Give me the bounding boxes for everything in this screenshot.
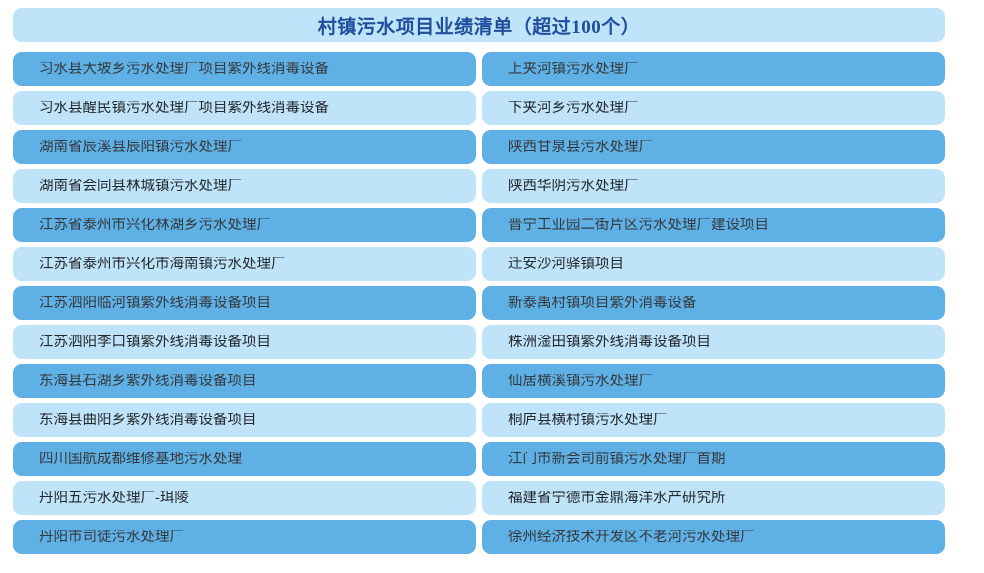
project-name: 丹阳五污水处理厂-珥陵 bbox=[39, 491, 189, 506]
table-row: 丹阳五污水处理厂-珥陵福建省宁德市金鼎海洋水产研究所 bbox=[13, 481, 945, 515]
table-row: 江苏泗阳临河镇紫外线消毒设备项目新泰禹村镇项目紫外消毒设备 bbox=[13, 286, 945, 320]
project-cell-right[interactable]: 陕西华阴污水处理厂 bbox=[482, 169, 945, 203]
project-name: 江苏泗阳临河镇紫外线消毒设备项目 bbox=[39, 296, 271, 311]
project-name: 江苏省泰州市兴化市海南镇污水处理厂 bbox=[39, 257, 286, 272]
project-cell-right[interactable]: 株洲淦田镇紫外线消毒设备项目 bbox=[482, 325, 945, 359]
project-cell-left[interactable]: 习水县大坡乡污水处理厂项目紫外线消毒设备 bbox=[13, 52, 476, 86]
project-name: 四川国航成都维修基地污水处理 bbox=[39, 452, 242, 467]
project-name: 丹阳市司徒污水处理厂 bbox=[39, 530, 184, 545]
project-name: 徐州经济技术开发区不老河污水处理厂 bbox=[508, 530, 755, 545]
project-cell-left[interactable]: 江苏省泰州市兴化林湖乡污水处理厂 bbox=[13, 208, 476, 242]
table-row: 江苏省泰州市兴化市海南镇污水处理厂迁安沙河驿镇项目 bbox=[13, 247, 945, 281]
table-row: 江苏省泰州市兴化林湖乡污水处理厂晋宁工业园二街片区污水处理厂建设项目 bbox=[13, 208, 945, 242]
project-cell-right[interactable]: 上夹河镇污水处理厂 bbox=[482, 52, 945, 86]
project-cell-left[interactable]: 丹阳五污水处理厂-珥陵 bbox=[13, 481, 476, 515]
project-name: 陕西甘泉县污水处理厂 bbox=[508, 140, 653, 155]
project-name: 东海县曲阳乡紫外线消毒设备项目 bbox=[39, 413, 257, 428]
table-row: 东海县石湖乡紫外线消毒设备项目仙居横溪镇污水处理厂 bbox=[13, 364, 945, 398]
project-cell-right[interactable]: 江门市新会司前镇污水处理厂首期 bbox=[482, 442, 945, 476]
project-name: 习水县大坡乡污水处理厂项目紫外线消毒设备 bbox=[39, 62, 329, 77]
project-cell-right[interactable]: 桐庐县横村镇污水处理厂 bbox=[482, 403, 945, 437]
project-name: 江苏省泰州市兴化林湖乡污水处理厂 bbox=[39, 218, 271, 233]
project-name: 新泰禹村镇项目紫外消毒设备 bbox=[508, 296, 697, 311]
table-row: 江苏泗阳李口镇紫外线消毒设备项目株洲淦田镇紫外线消毒设备项目 bbox=[13, 325, 945, 359]
project-cell-right[interactable]: 仙居横溪镇污水处理厂 bbox=[482, 364, 945, 398]
project-name: 株洲淦田镇紫外线消毒设备项目 bbox=[508, 335, 711, 350]
project-cell-left[interactable]: 湖南省辰溪县辰阳镇污水处理厂 bbox=[13, 130, 476, 164]
project-cell-right[interactable]: 福建省宁德市金鼎海洋水产研究所 bbox=[482, 481, 945, 515]
project-cell-right[interactable]: 下夹河乡污水处理厂 bbox=[482, 91, 945, 125]
project-name: 下夹河乡污水处理厂 bbox=[508, 101, 639, 116]
project-cell-left[interactable]: 习水县醒民镇污水处理厂项目紫外线消毒设备 bbox=[13, 91, 476, 125]
page-title: 村镇污水项目业绩清单（超过100个） bbox=[318, 12, 641, 39]
project-cell-left[interactable]: 丹阳市司徒污水处理厂 bbox=[13, 520, 476, 554]
project-cell-right[interactable]: 陕西甘泉县污水处理厂 bbox=[482, 130, 945, 164]
project-name: 江苏泗阳李口镇紫外线消毒设备项目 bbox=[39, 335, 271, 350]
project-name: 福建省宁德市金鼎海洋水产研究所 bbox=[508, 491, 726, 506]
project-cell-right[interactable]: 迁安沙河驿镇项目 bbox=[482, 247, 945, 281]
project-cell-left[interactable]: 江苏省泰州市兴化市海南镇污水处理厂 bbox=[13, 247, 476, 281]
project-cell-left[interactable]: 四川国航成都维修基地污水处理 bbox=[13, 442, 476, 476]
project-cell-left[interactable]: 东海县曲阳乡紫外线消毒设备项目 bbox=[13, 403, 476, 437]
project-cell-right[interactable]: 晋宁工业园二街片区污水处理厂建设项目 bbox=[482, 208, 945, 242]
project-cell-left[interactable]: 东海县石湖乡紫外线消毒设备项目 bbox=[13, 364, 476, 398]
project-list-board: 村镇污水项目业绩清单（超过100个） 习水县大坡乡污水处理厂项目紫外线消毒设备上… bbox=[0, 0, 984, 573]
table-row: 湖南省辰溪县辰阳镇污水处理厂陕西甘泉县污水处理厂 bbox=[13, 130, 945, 164]
project-name: 桐庐县横村镇污水处理厂 bbox=[508, 413, 668, 428]
table-row: 四川国航成都维修基地污水处理江门市新会司前镇污水处理厂首期 bbox=[13, 442, 945, 476]
project-name: 习水县醒民镇污水处理厂项目紫外线消毒设备 bbox=[39, 101, 329, 116]
project-name: 东海县石湖乡紫外线消毒设备项目 bbox=[39, 374, 257, 389]
project-cell-right[interactable]: 徐州经济技术开发区不老河污水处理厂 bbox=[482, 520, 945, 554]
table-row: 湖南省会同县林城镇污水处理厂陕西华阴污水处理厂 bbox=[13, 169, 945, 203]
table-row: 丹阳市司徒污水处理厂徐州经济技术开发区不老河污水处理厂 bbox=[13, 520, 945, 554]
table-row: 习水县大坡乡污水处理厂项目紫外线消毒设备上夹河镇污水处理厂 bbox=[13, 52, 945, 86]
page-title-bar: 村镇污水项目业绩清单（超过100个） bbox=[13, 8, 945, 42]
project-name: 上夹河镇污水处理厂 bbox=[508, 62, 639, 77]
table-row: 习水县醒民镇污水处理厂项目紫外线消毒设备下夹河乡污水处理厂 bbox=[13, 91, 945, 125]
project-cell-left[interactable]: 江苏泗阳临河镇紫外线消毒设备项目 bbox=[13, 286, 476, 320]
project-name: 晋宁工业园二街片区污水处理厂建设项目 bbox=[508, 218, 769, 233]
project-cell-right[interactable]: 新泰禹村镇项目紫外消毒设备 bbox=[482, 286, 945, 320]
project-name: 湖南省会同县林城镇污水处理厂 bbox=[39, 179, 242, 194]
table-row: 东海县曲阳乡紫外线消毒设备项目桐庐县横村镇污水处理厂 bbox=[13, 403, 945, 437]
project-cell-left[interactable]: 江苏泗阳李口镇紫外线消毒设备项目 bbox=[13, 325, 476, 359]
project-table: 习水县大坡乡污水处理厂项目紫外线消毒设备上夹河镇污水处理厂习水县醒民镇污水处理厂… bbox=[13, 52, 945, 554]
project-name: 陕西华阴污水处理厂 bbox=[508, 179, 639, 194]
project-name: 江门市新会司前镇污水处理厂首期 bbox=[508, 452, 726, 467]
project-name: 湖南省辰溪县辰阳镇污水处理厂 bbox=[39, 140, 242, 155]
project-cell-left[interactable]: 湖南省会同县林城镇污水处理厂 bbox=[13, 169, 476, 203]
project-name: 仙居横溪镇污水处理厂 bbox=[508, 374, 653, 389]
project-name: 迁安沙河驿镇项目 bbox=[508, 257, 624, 272]
